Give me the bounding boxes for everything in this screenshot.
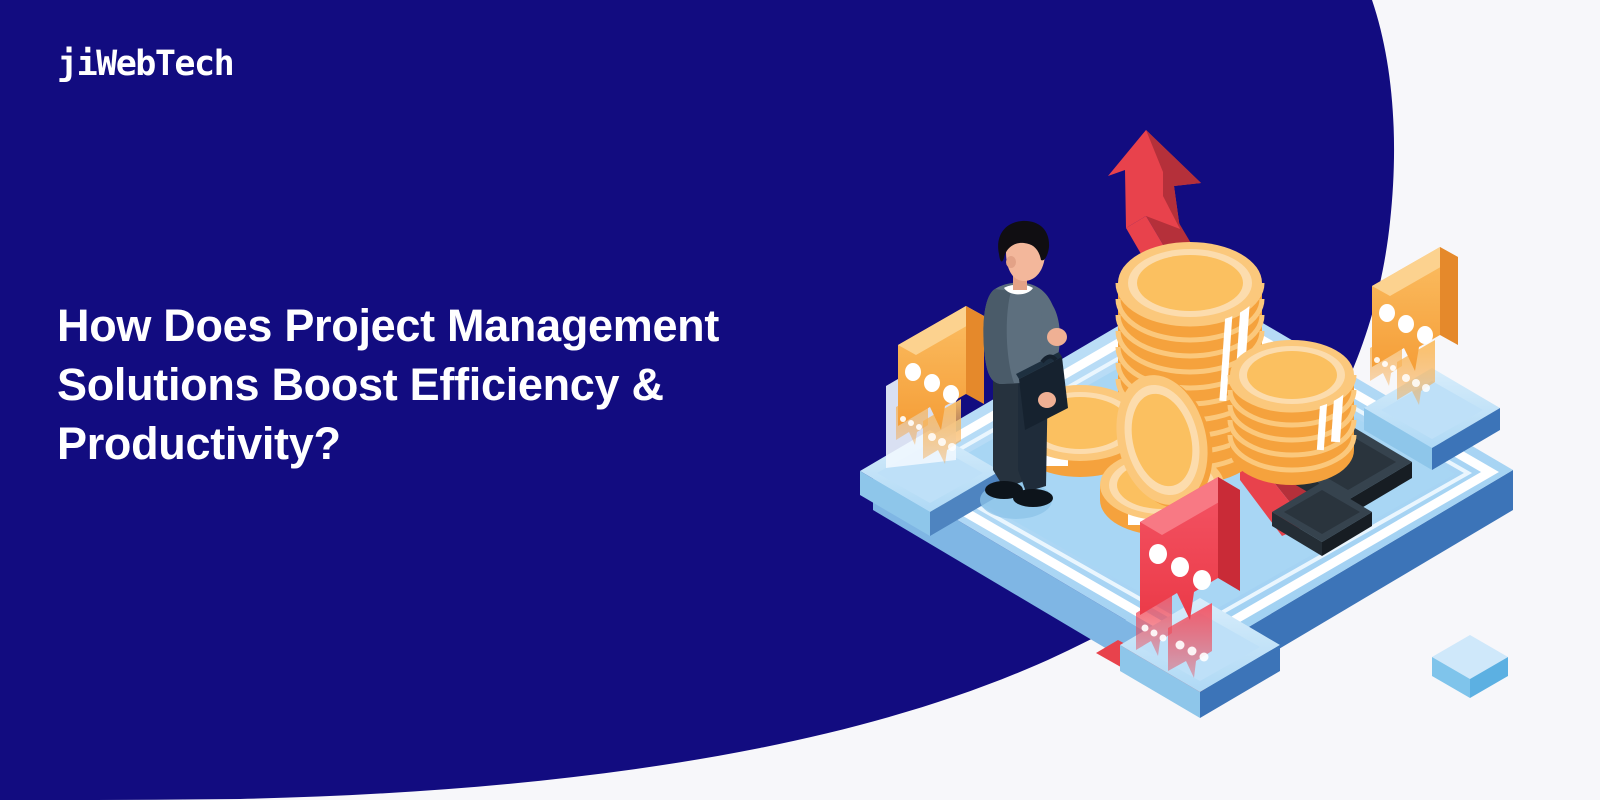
mini-dot-rb1 xyxy=(1402,374,1410,382)
bubble-side-left xyxy=(966,306,984,404)
mini-dot-b2-left xyxy=(938,438,946,446)
chat-bubble-orange-right xyxy=(1364,247,1500,470)
mini-dot-b1-left xyxy=(928,433,936,441)
bubble-dot-2-left xyxy=(924,374,940,392)
mini-dot-a2-left xyxy=(908,420,914,426)
mini-dot-a1-left xyxy=(900,416,906,422)
mini-dot-red-b2 xyxy=(1188,647,1197,656)
figure-shoe-front xyxy=(1013,489,1053,507)
mini-dot-ra1 xyxy=(1374,357,1380,363)
figure-leg-back xyxy=(993,370,1022,488)
bubble-dot-2-right xyxy=(1398,315,1414,333)
bubble-dot-2-red xyxy=(1171,557,1189,577)
bubble-dot-1-right xyxy=(1379,304,1395,322)
mini-dot-red-b3 xyxy=(1200,653,1209,662)
mini-dot-rb3 xyxy=(1422,384,1430,392)
mini-dot-ra2 xyxy=(1382,361,1388,367)
coin-stack-short xyxy=(1230,340,1354,485)
figure-hand-lower xyxy=(1038,392,1056,408)
mini-dot-red-a3 xyxy=(1160,635,1167,642)
mini-dot-rb2 xyxy=(1412,379,1420,387)
mini-dot-a3-left xyxy=(916,424,922,430)
bubble-dot-3-left xyxy=(943,385,959,403)
bubble-dot-3-right xyxy=(1417,326,1433,344)
figure-hand-upper xyxy=(1047,328,1067,346)
mini-dot-red-a2 xyxy=(1151,630,1158,637)
bubble-side-red xyxy=(1218,477,1240,591)
floating-cube xyxy=(1432,635,1508,698)
bubble-dot-1-left xyxy=(905,363,921,381)
bubble-dot-3-red xyxy=(1193,570,1211,590)
blog-banner: jiWebTech How Does Project Management So… xyxy=(0,0,1600,800)
bubble-side-right xyxy=(1440,247,1458,345)
bubble-dot-1-red xyxy=(1149,544,1167,564)
coin-stack-tall-top-inner xyxy=(1137,255,1243,311)
mini-dot-ra3 xyxy=(1390,365,1396,371)
page-title: How Does Project Management Solutions Bo… xyxy=(57,296,857,473)
mini-dot-red-b1 xyxy=(1176,641,1185,650)
mini-dot-b3-left xyxy=(948,443,956,451)
coin-stack-short-top-inner xyxy=(1247,351,1337,399)
mini-dot-red-a1 xyxy=(1142,625,1149,632)
brand-logo[interactable]: jiWebTech xyxy=(57,47,233,82)
figure-ear xyxy=(1006,256,1016,268)
